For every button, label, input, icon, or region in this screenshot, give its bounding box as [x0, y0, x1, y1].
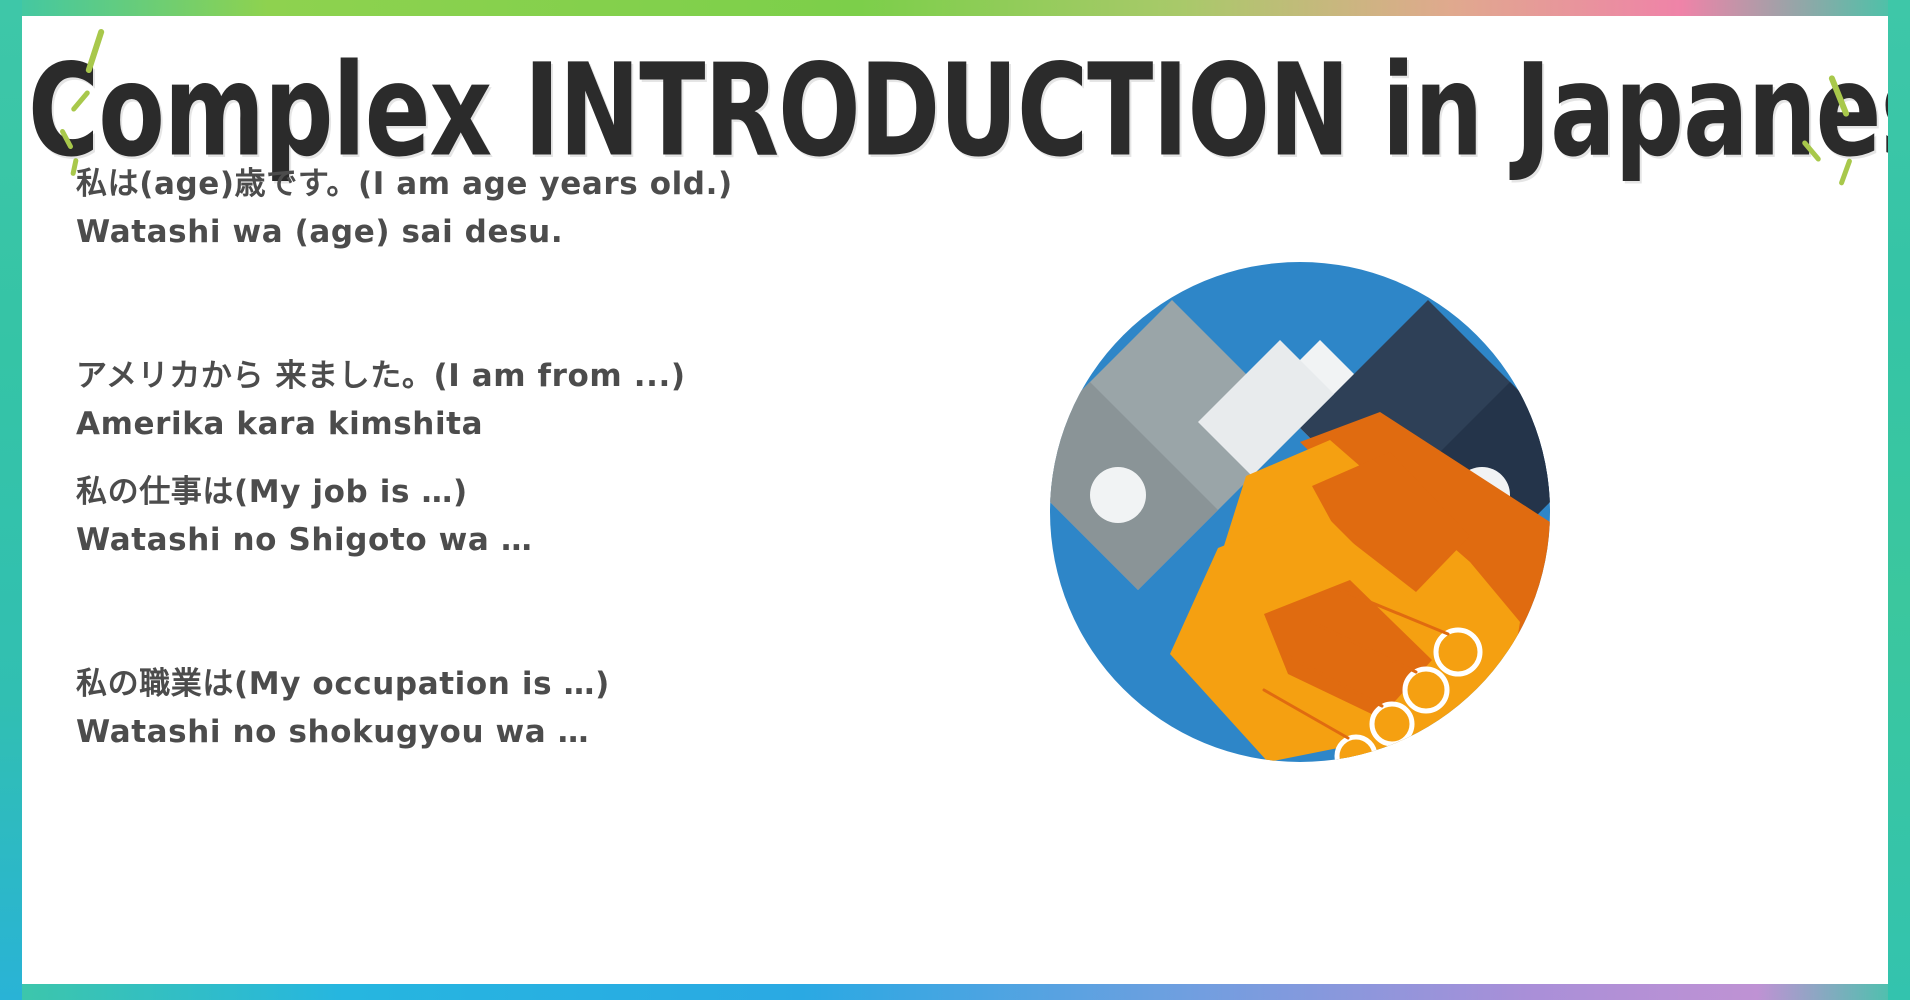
- phrase-romaji: Watashi no shokugyou wa …: [76, 708, 1036, 756]
- phrase-japanese: 私は(age)歳です。(I am age years old.): [76, 160, 1036, 208]
- phrase-block-age: 私は(age)歳です。(I am age years old.) Watashi…: [76, 160, 1036, 256]
- slide-root: Complex INTRODUCTION in Japanese 私は(age)…: [0, 0, 1910, 1000]
- phrase-romaji: Amerika kara kimshita: [76, 400, 1036, 448]
- frame-top-border: [0, 0, 1910, 16]
- phrase-japanese: 私の職業は(My occupation is …): [76, 660, 1036, 708]
- frame-bottom-border: [0, 984, 1910, 1000]
- phrase-list: 私は(age)歳です。(I am age years old.) Watashi…: [76, 160, 1036, 756]
- spacer: [76, 256, 1036, 352]
- phrase-block-origin: アメリカから 来ました。(I am from ...) Amerika kara…: [76, 352, 1036, 448]
- handshake-illustration: [1050, 262, 1550, 762]
- spacer: [76, 448, 1036, 468]
- spacer: [76, 564, 1036, 660]
- phrase-romaji: Watashi wa (age) sai desu.: [76, 208, 1036, 256]
- phrase-block-occupation: 私の職業は(My occupation is …) Watashi no sho…: [76, 660, 1036, 756]
- fingertip-2: [1405, 669, 1447, 711]
- phrase-romaji: Watashi no Shigoto wa …: [76, 516, 1036, 564]
- phrase-japanese: アメリカから 来ました。(I am from ...): [76, 352, 1036, 400]
- phrase-japanese: 私の仕事は(My job is …): [76, 468, 1036, 516]
- frame-left-border: [0, 0, 22, 1000]
- handshake-icon: [1050, 262, 1550, 762]
- left-sleeve-button: [1090, 467, 1146, 523]
- phrase-block-job: 私の仕事は(My job is …) Watashi no Shigoto wa…: [76, 468, 1036, 564]
- frame-right-border: [1888, 0, 1910, 1000]
- fingertip-3: [1372, 704, 1412, 744]
- fingertip-1: [1436, 630, 1480, 674]
- fingertip-4: [1337, 737, 1375, 762]
- page-title: Complex INTRODUCTION in Japanese: [28, 48, 1879, 175]
